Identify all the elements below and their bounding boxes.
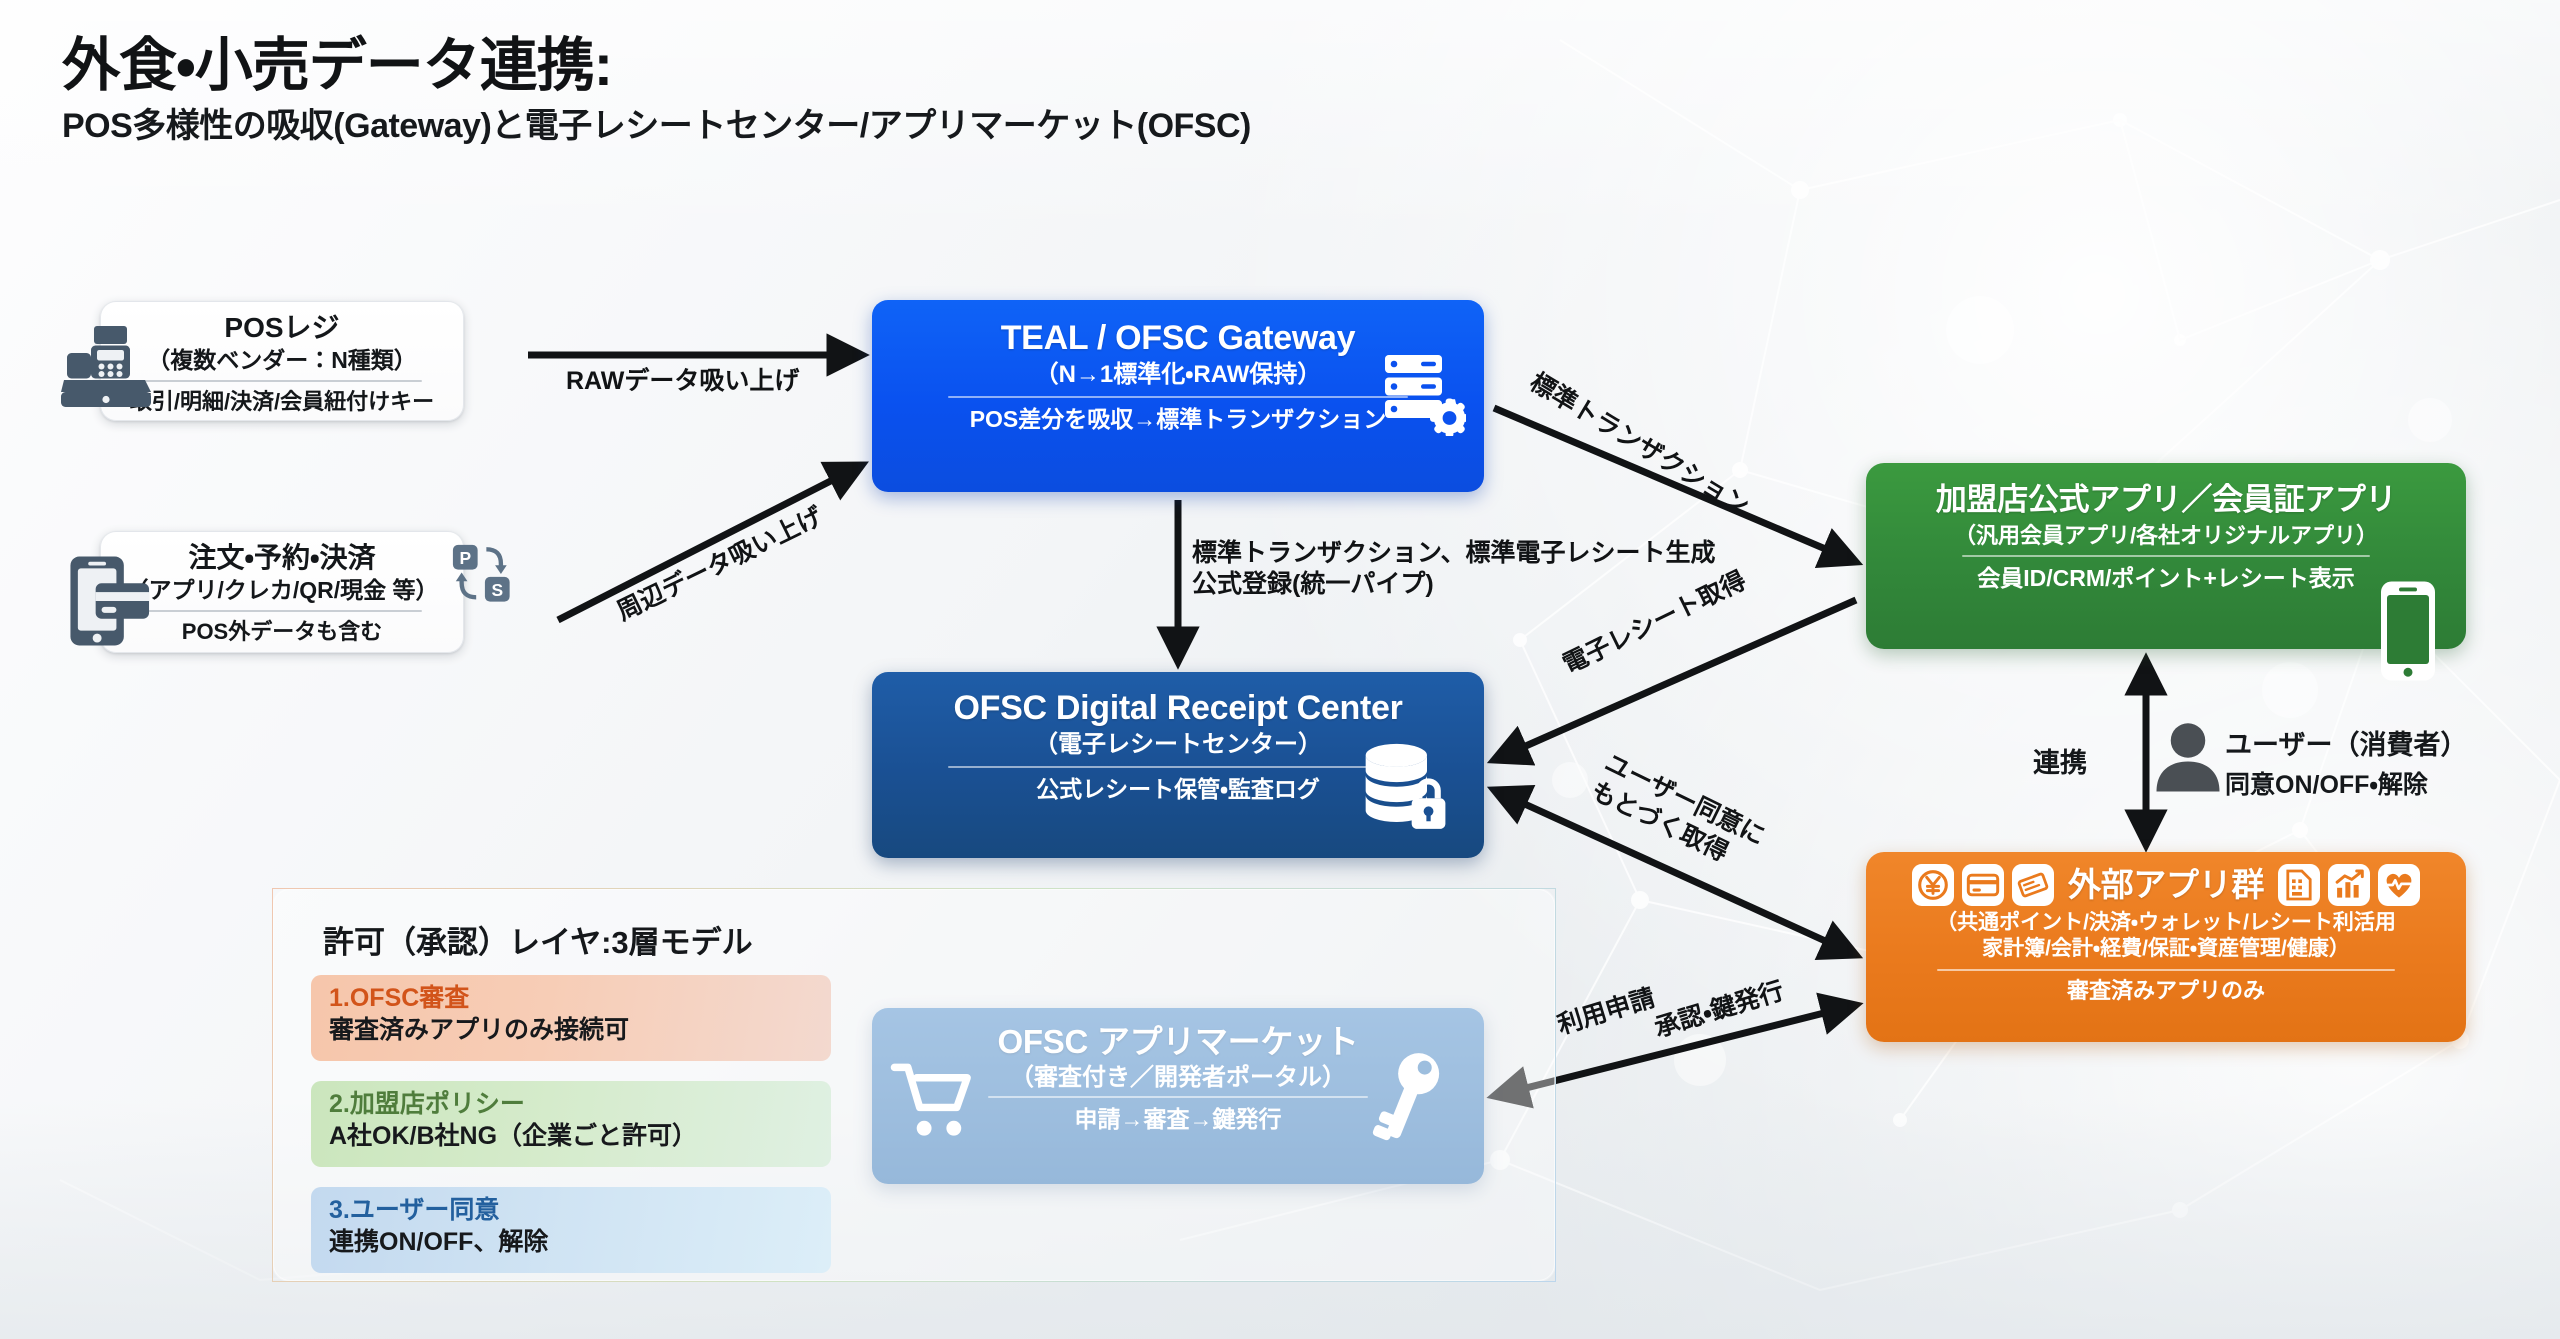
node-external-apps-subtitle-line2: 家計簿/会計・経費/保証・資産管理/健康） <box>1880 936 2452 962</box>
node-pos-subtitle: （複数ベンダー：N種類） <box>115 347 449 373</box>
yen-coin-icon <box>1912 864 1954 906</box>
header: 外食・小売データ連携: POS多様性の吸収(Gateway)と電子レシートセンタ… <box>62 34 1251 146</box>
edge-label-unified-pipe-line2: 公式登録(統一パイプ) <box>1192 569 1716 600</box>
user-consent-label: 同意ON/OFF・解除 <box>2225 765 2467 801</box>
database-lock-icon <box>1358 740 1450 832</box>
node-order-subtitle: （アプリ/クレカ/QR/現金 等） <box>115 577 449 603</box>
user-avatar-icon <box>2155 721 2221 793</box>
receipt-tag-icon <box>2012 864 2054 906</box>
permission-layer-2-body: A社OK/B社NG（企業ごと許可） <box>329 1121 831 1151</box>
node-pos-footer: 取引/明細/決済/会員紐付けキー <box>115 389 449 414</box>
edge-label-unified-pipe: 標準トランザクション、標準電子レシート生成 公式登録(統一パイプ) <box>1192 538 1716 599</box>
edge-label-unified-pipe-line1: 標準トランザクション、標準電子レシート生成 <box>1192 538 1716 569</box>
node-pos-register[interactable]: POSレジ （複数ベンダー：N種類） 取引/明細/決済/会員紐付けキー <box>100 301 464 421</box>
divider <box>1962 555 2371 557</box>
divider <box>1937 969 2395 971</box>
page-title: 外食・小売データ連携: <box>62 34 1251 98</box>
divider <box>948 766 1409 768</box>
node-order-title: 注文・予約・決済 <box>115 543 449 574</box>
mobile-payment-icon <box>66 553 152 649</box>
node-external-apps-subtitle-line1: （共通ポイント/決済・ウォレット/レシート利活用 <box>1880 910 2452 936</box>
edge-label-raw-data: RAWデータ吸い上げ <box>566 366 799 397</box>
permission-panel-title: 許可（承認）レイヤ:3層モデル <box>323 917 753 962</box>
permission-layer-panel: 許可（承認）レイヤ:3層モデル 1.OFSC審査 審査済みアプリのみ接続可 2.… <box>272 888 1556 1282</box>
user-text-group: ユーザー（消費者） 同意ON/OFF・解除 <box>2225 723 2467 801</box>
permission-layer-3-body: 連携ON/OFF、解除 <box>329 1227 831 1257</box>
node-gateway-footer: POS差分を吸収→標準トランザクション <box>890 406 1466 432</box>
pos-sync-icon: P S <box>450 542 514 606</box>
divider <box>142 610 423 612</box>
permission-layer-1-body: 審査済みアプリのみ接続可 <box>329 1015 831 1045</box>
node-external-apps[interactable]: 外部アプリ群 <box>1866 852 2466 1042</box>
svg-text:S: S <box>491 580 503 600</box>
permission-layer-2[interactable]: 2.加盟店ポリシー A社OK/B社NG（企業ごと許可） <box>311 1081 831 1167</box>
permission-layer-1-heading: 1.OFSC審査 <box>329 984 831 1013</box>
divider <box>948 396 1409 398</box>
svg-text:P: P <box>459 548 471 568</box>
node-order-reservation-payment[interactable]: 注文・予約・決済 （アプリ/クレカ/QR/現金 等） POS外データも含む <box>100 531 464 653</box>
node-receipt-center-title: OFSC Digital Receipt Center <box>890 690 1466 727</box>
page-subtitle: POS多様性の吸収(Gateway)と電子レシートセンター/アプリマーケット(O… <box>62 107 1251 146</box>
external-apps-header-row: 外部アプリ群 <box>1880 864 2452 906</box>
permission-layer-1[interactable]: 1.OFSC審査 審査済みアプリのみ接続可 <box>311 975 831 1061</box>
divider <box>142 380 423 382</box>
node-member-app[interactable]: 加盟店公式アプリ／会員証アプリ （汎用会員アプリ/各社オリジナルアプリ） 会員I… <box>1866 463 2466 649</box>
node-member-app-subtitle: （汎用会員アプリ/各社オリジナルアプリ） <box>1882 523 2450 548</box>
cash-register-icon <box>58 320 154 410</box>
node-external-apps-footer: 審査済みアプリのみ <box>1880 978 2452 1003</box>
node-pos-title: POSレジ <box>115 313 449 344</box>
node-gateway-title: TEAL / OFSC Gateway <box>890 320 1466 357</box>
node-order-footer: POS外データも含む <box>115 619 449 644</box>
node-member-app-footer: 会員ID/CRM/ポイント+レシート表示 <box>1882 565 2450 591</box>
smartphone-icon <box>2378 578 2438 684</box>
server-gear-icon <box>1382 352 1466 436</box>
credit-card-icon <box>1962 864 2004 906</box>
node-external-apps-title: 外部アプリ群 <box>2068 867 2264 903</box>
heart-pulse-icon <box>2378 864 2420 906</box>
permission-layer-3-heading: 3.ユーザー同意 <box>329 1196 831 1225</box>
document-building-icon <box>2278 864 2320 906</box>
user-name-label: ユーザー（消費者） <box>2225 723 2467 762</box>
node-member-app-title: 加盟店公式アプリ／会員証アプリ <box>1882 483 2450 517</box>
link-label: 連携 <box>2033 741 2087 780</box>
user-consumer-block: 連携 ユーザー（消費者） 同意ON/OFF・解除 <box>2033 715 2463 811</box>
chart-growth-icon <box>2328 864 2370 906</box>
permission-layer-3[interactable]: 3.ユーザー同意 連携ON/OFF、解除 <box>311 1187 831 1273</box>
permission-layer-2-heading: 2.加盟店ポリシー <box>329 1090 831 1119</box>
node-gateway-subtitle: （N→1標準化・RAW保持） <box>890 361 1466 389</box>
diagram-canvas: 外食・小売データ連携: POS多様性の吸収(Gateway)と電子レシートセンタ… <box>0 0 2560 1339</box>
